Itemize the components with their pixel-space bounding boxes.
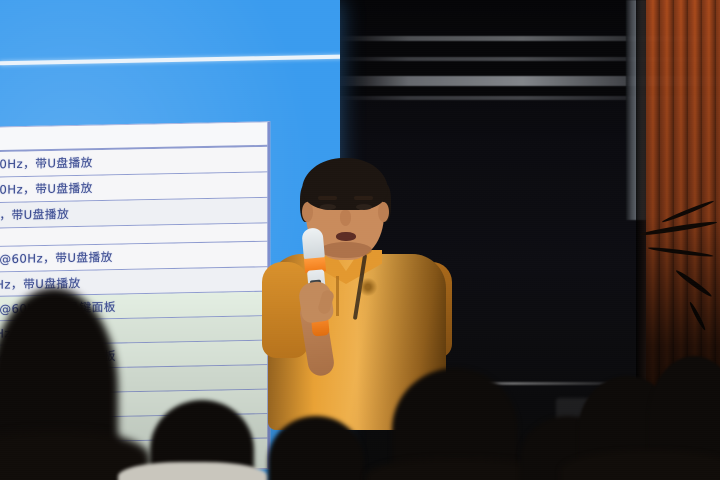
slide-table-cell: 0万像素@60Hz，带U盘播放	[0, 249, 113, 268]
eye-left	[320, 204, 336, 210]
microphone-head	[301, 227, 325, 261]
chin-shading	[320, 242, 372, 258]
screenshot-root: 说明像素@60Hz，带U盘播放像素@60Hz，带U盘播放0万像素，带U盘播放0万…	[0, 0, 720, 480]
shirt-logo	[358, 278, 378, 296]
mouth	[336, 232, 356, 241]
shirt-placket	[336, 276, 339, 316]
eye-right	[356, 204, 372, 210]
presenter-hair	[302, 158, 388, 210]
nose	[340, 210, 351, 226]
slide-table-cell: 像素@60Hz，带U盘播放	[0, 180, 93, 199]
slide-table-cell: 0万像素，带U盘播放	[0, 206, 69, 225]
eyebrow-left	[318, 196, 337, 200]
ear-right	[378, 202, 389, 222]
slide-table-cell: 像素@60Hz，带U盘播放	[0, 154, 93, 173]
eyebrow-right	[354, 196, 373, 200]
audience-shirt	[118, 462, 268, 480]
